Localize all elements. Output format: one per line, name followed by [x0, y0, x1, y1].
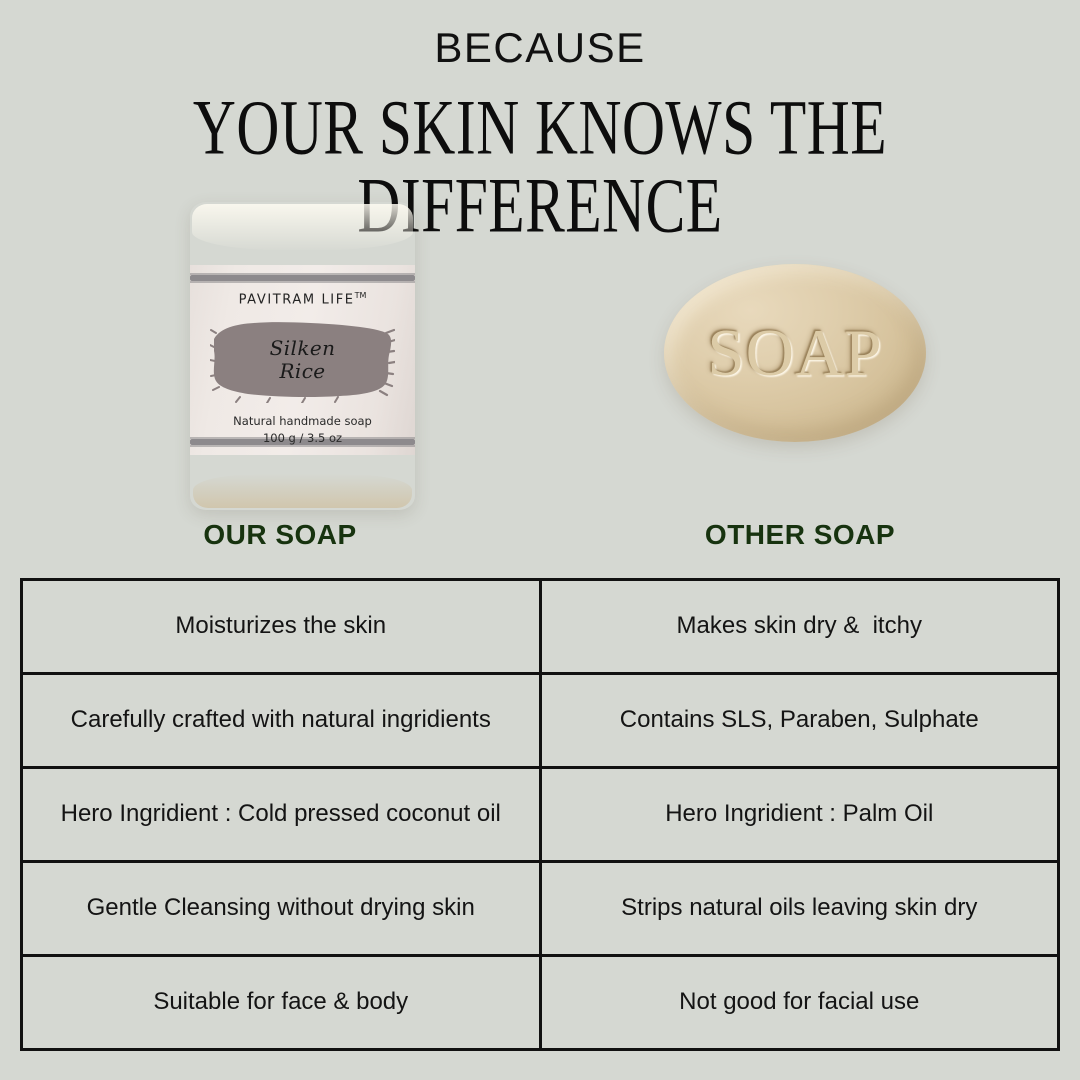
- table-row: Suitable for face & body Not good for fa…: [22, 956, 1059, 1050]
- variant-name-line-1: Silken: [270, 337, 336, 360]
- comparison-table-body: Moisturizes the skin Makes skin dry & it…: [22, 580, 1059, 1050]
- table-cell-other: Contains SLS, Paraben, Sulphate: [540, 674, 1059, 768]
- soap-paper-label: PAVITRAM LIFETM Silken Rice Natural hand…: [190, 265, 415, 455]
- comparison-table: Moisturizes the skin Makes skin dry & it…: [20, 578, 1060, 1051]
- column-header-our-soap: OUR SOAP: [20, 519, 540, 551]
- table-row: Moisturizes the skin Makes skin dry & it…: [22, 580, 1059, 674]
- table-cell-our: Carefully crafted with natural ingridien…: [22, 674, 541, 768]
- product-comparison-images: PAVITRAM LIFETM Silken Rice Natural hand…: [0, 196, 1080, 516]
- table-cell-our: Suitable for face & body: [22, 956, 541, 1050]
- table-row: Carefully crafted with natural ingridien…: [22, 674, 1059, 768]
- trademark-symbol: TM: [355, 291, 367, 300]
- comparison-column-headers: OUR SOAP OTHER SOAP: [20, 519, 1060, 551]
- label-stripe-top: [190, 275, 415, 281]
- table-cell-other: Strips natural oils leaving skin dry: [540, 862, 1059, 956]
- headline-line-1: BECAUSE: [0, 27, 1080, 69]
- table-row: Hero Ingridient : Cold pressed coconut o…: [22, 768, 1059, 862]
- soap-variant-name: Silken Rice: [190, 317, 415, 403]
- table-cell-our: Moisturizes the skin: [22, 580, 541, 674]
- table-cell-our: Gentle Cleansing without drying skin: [22, 862, 541, 956]
- headline-block: BECAUSE YOUR SKIN KNOWS THE DIFFERENCE: [0, 0, 1080, 213]
- column-header-other-soap: OTHER SOAP: [540, 519, 1060, 551]
- label-description-block: Natural handmade soap 100 g / 3.5 oz: [190, 413, 415, 448]
- our-soap-product-image: PAVITRAM LIFETM Silken Rice Natural hand…: [190, 202, 415, 510]
- other-soap-product-image: SOAP: [664, 264, 926, 442]
- variant-name-line-2: Rice: [279, 360, 325, 383]
- soap-bar-top-highlight: [192, 204, 413, 250]
- brand-name: PAVITRAM LIFETM: [190, 291, 415, 307]
- table-cell-other: Not good for facial use: [540, 956, 1059, 1050]
- table-cell-our: Hero Ingridient : Cold pressed coconut o…: [22, 768, 541, 862]
- soap-bar-bottom-shadow: [193, 474, 412, 508]
- table-cell-other: Hero Ingridient : Palm Oil: [540, 768, 1059, 862]
- brand-name-text: PAVITRAM LIFE: [239, 292, 355, 307]
- label-weight: 100 g / 3.5 oz: [190, 430, 415, 447]
- table-row: Gentle Cleansing without drying skin Str…: [22, 862, 1059, 956]
- oval-soap-emboss-text: SOAP: [664, 264, 926, 442]
- table-cell-other: Makes skin dry & itchy: [540, 580, 1059, 674]
- label-description: Natural handmade soap: [190, 413, 415, 430]
